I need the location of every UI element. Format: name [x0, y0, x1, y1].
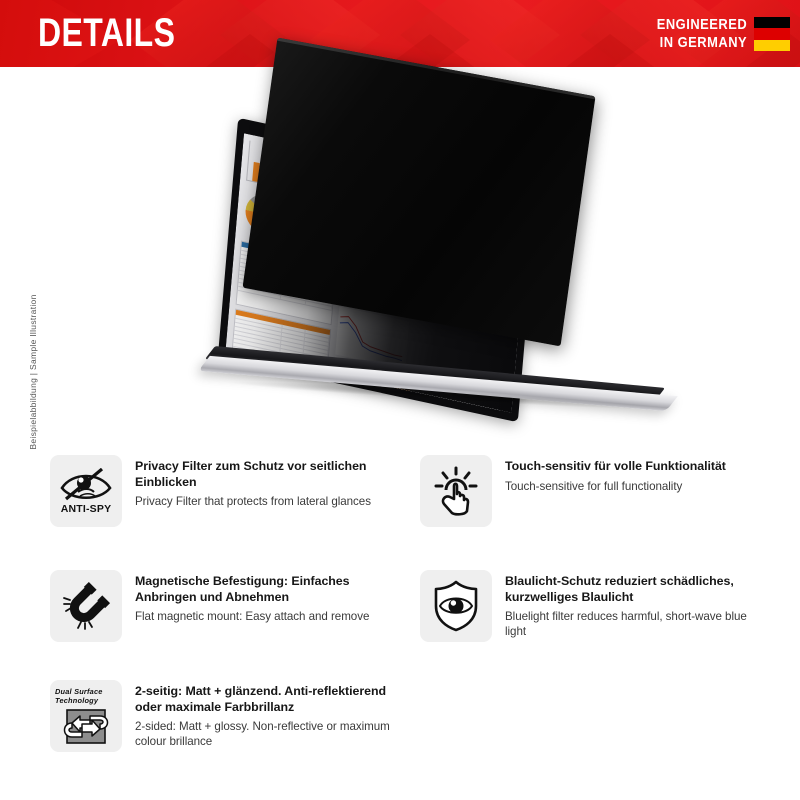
engineered-line-1: ENGINEERED	[657, 16, 747, 34]
touch-icon-box	[420, 455, 492, 527]
anti-spy-icon-box: ANTI-SPY	[50, 455, 122, 527]
feature-title-en: Privacy Filter that protects from latera…	[135, 495, 387, 510]
feature-title-de: Privacy Filter zum Schutz vor seitlichen…	[135, 459, 387, 490]
touch-hand-icon	[432, 466, 480, 516]
feature-text: Magnetische Befestigung: Einfaches Anbri…	[135, 570, 387, 625]
shield-icon-box	[420, 570, 492, 642]
feature-title-en: Touch-sensitive for full functionality	[505, 480, 757, 495]
magnet-icon-box	[50, 570, 122, 642]
feature-title-de: 2-seitig: Matt + glänzend. Anti-reflekti…	[135, 684, 403, 715]
flag-stripe-gold	[754, 40, 790, 51]
feature-title-en: Bluelight filter reduces harmful, short-…	[505, 610, 757, 639]
engineered-in-germany-badge: ENGINEERED IN GERMANY	[642, 12, 790, 56]
engineered-in-germany-text: ENGINEERED IN GERMANY	[657, 16, 747, 52]
flag-stripe-red	[754, 28, 790, 39]
laptop-base	[210, 367, 660, 389]
feature-dual-surface: Dual Surface Technology 2-seitig: Matt +…	[50, 680, 403, 752]
dual-surface-label: Dual Surface Technology	[50, 688, 122, 706]
magnet-icon	[61, 581, 111, 631]
dual-surface-arrows-icon	[56, 707, 116, 749]
feature-touch-sensitive: Touch-sensitiv für volle Funktionalität …	[420, 455, 757, 527]
feature-text: 2-seitig: Matt + glänzend. Anti-reflekti…	[135, 680, 403, 749]
laptop-illustration	[150, 67, 750, 427]
sample-illustration-caption: Beispielabbildung | Sample Illustration	[28, 292, 38, 452]
feature-text: Privacy Filter zum Schutz vor seitlichen…	[135, 455, 387, 510]
feature-magnetic-mount: Magnetische Befestigung: Einfaches Anbri…	[50, 570, 387, 642]
page-title: DETAILS	[38, 11, 175, 55]
page-header: DETAILS ENGINEERED IN GERMANY	[0, 0, 800, 67]
feature-bluelight-filter: Blaulicht-Schutz reduziert schädliches, …	[420, 570, 757, 642]
feature-title-en: 2-sided: Matt + glossy. Non-reflective o…	[135, 720, 403, 749]
feature-text: Blaulicht-Schutz reduziert schädliches, …	[505, 570, 757, 639]
feature-privacy-filter: ANTI-SPY Privacy Filter zum Schutz vor s…	[50, 455, 387, 527]
anti-spy-eye-icon	[60, 468, 112, 502]
hero-product-image: Beispielabbildung | Sample Illustration	[0, 67, 800, 437]
feature-title-de: Magnetische Befestigung: Einfaches Anbri…	[135, 574, 387, 605]
feature-title-de: Blaulicht-Schutz reduziert schädliches, …	[505, 574, 757, 605]
feature-list: ANTI-SPY Privacy Filter zum Schutz vor s…	[0, 437, 800, 800]
german-flag-icon	[754, 17, 790, 51]
shield-eye-icon	[432, 580, 480, 632]
dual-surface-label-line2: Technology	[55, 697, 122, 706]
engineered-line-2: IN GERMANY	[657, 34, 747, 52]
feature-title-en: Flat magnetic mount: Easy attach and rem…	[135, 610, 387, 625]
feature-title-de: Touch-sensitiv für volle Funktionalität	[505, 459, 757, 475]
feature-text: Touch-sensitiv für volle Funktionalität …	[505, 455, 757, 494]
anti-spy-label: ANTI-SPY	[61, 503, 112, 515]
dual-surface-icon-box: Dual Surface Technology	[50, 680, 122, 752]
flag-stripe-black	[754, 17, 790, 28]
